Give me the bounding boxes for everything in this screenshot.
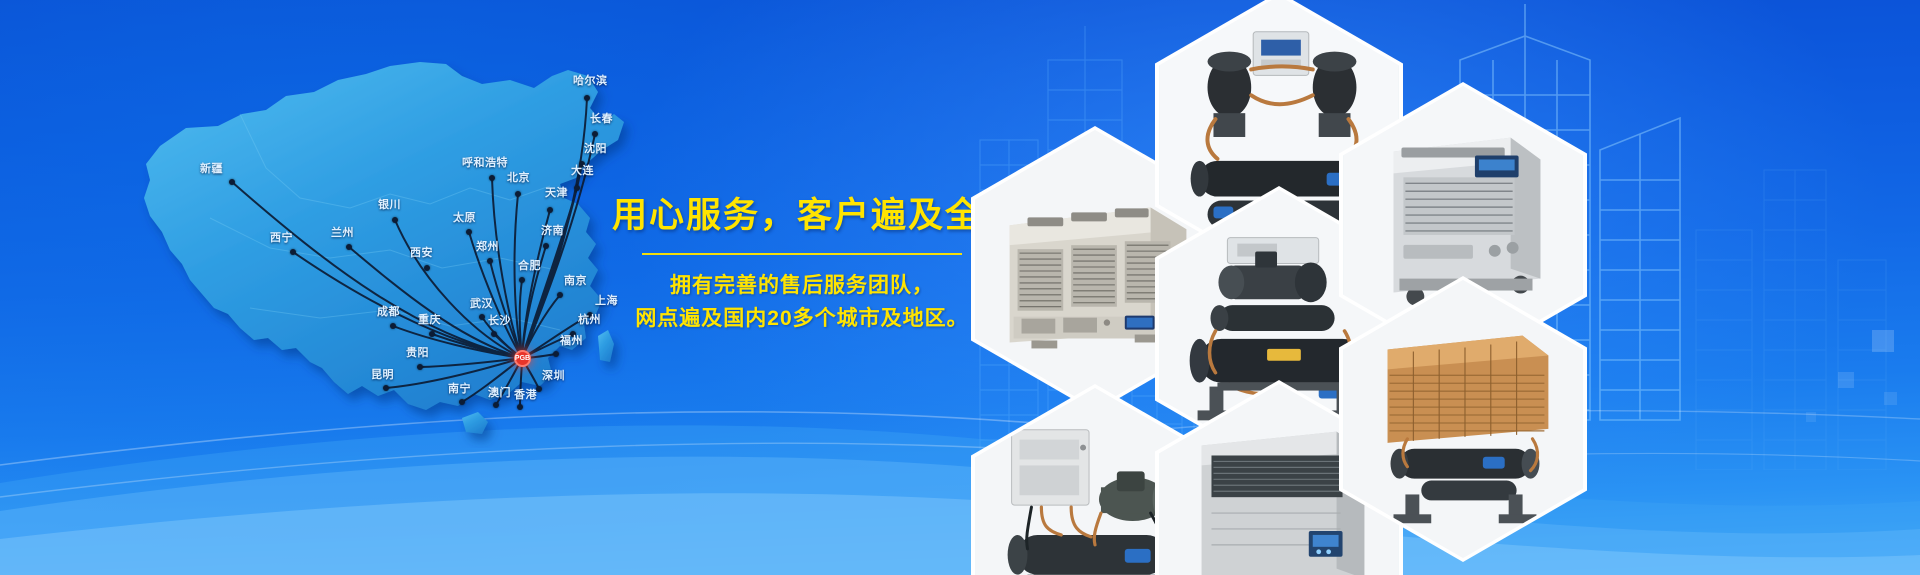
map-city-label: 成都 [377, 307, 400, 318]
map-city-label: 西宁 [270, 233, 293, 244]
map-city-dot[interactable] [517, 404, 523, 410]
map-city-dot[interactable] [592, 131, 598, 137]
map-city-label: 郑州 [476, 242, 499, 253]
map-city-dot[interactable] [487, 258, 493, 264]
map-city-label: 北京 [507, 173, 530, 184]
map-city-label: 昆明 [371, 370, 394, 381]
map-city-label: 澳门 [488, 388, 511, 399]
map-city-dot[interactable] [390, 323, 396, 329]
map-city-label: 合肥 [518, 261, 541, 272]
map-city-dot[interactable] [229, 179, 235, 185]
map-city-dot[interactable] [459, 399, 465, 405]
map-city-label: 南京 [564, 276, 587, 287]
map-city-dot[interactable] [489, 175, 495, 181]
map-city-label: 大连 [571, 166, 594, 177]
map-city-dot[interactable] [417, 364, 423, 370]
decorative-square [1884, 392, 1897, 405]
banner-subtitle-line-2: 网点遍及国内20多个城市及地区。 [612, 303, 992, 336]
banner-text-block: 用心服务，客户遍及全国 拥有完善的售后服务团队， 网点遍及国内20多个城市及地区… [612, 196, 992, 335]
product-hexagon-collage [955, 0, 1595, 575]
banner-headline: 用心服务，客户遍及全国 [612, 196, 992, 236]
map-city-dot[interactable] [290, 249, 296, 255]
map-city-dot[interactable] [519, 277, 525, 283]
map-city-label: 天津 [545, 188, 568, 199]
map-city-dot[interactable] [429, 331, 435, 337]
decorative-square [1872, 330, 1894, 352]
map-city-dot[interactable] [493, 402, 499, 408]
map-hub-marker[interactable]: PGB [514, 350, 531, 367]
map-city-label: 香港 [514, 390, 537, 401]
map-city-label: 太原 [453, 213, 476, 224]
headline-divider [642, 253, 962, 255]
map-city-dot[interactable] [479, 314, 485, 320]
map-city-label: 武汉 [470, 299, 493, 310]
map-city-dot[interactable] [543, 243, 549, 249]
map-city-label: 西安 [410, 248, 433, 259]
map-city-label: 贵阳 [406, 348, 429, 359]
map-city-dot[interactable] [383, 385, 389, 391]
decorative-square [1838, 372, 1854, 388]
map-city-label: 新疆 [200, 164, 223, 175]
map-city-dot[interactable] [547, 207, 553, 213]
map-city-dot[interactable] [346, 244, 352, 250]
map-city-label: 银川 [378, 200, 401, 211]
decorative-square [1806, 412, 1816, 422]
promo-banner: 新疆哈尔滨长春沈阳呼和浩特北京大连天津银川太原兰州西宁郑州西安济南合肥南京上海武… [0, 0, 1920, 575]
map-city-dot[interactable] [584, 95, 590, 101]
map-city-dot[interactable] [553, 351, 559, 357]
banner-subtitle-line-1: 拥有完善的售后服务团队， [612, 270, 992, 303]
map-city-label: 哈尔滨 [573, 76, 608, 87]
map-city-label: 长沙 [488, 316, 511, 327]
map-city-label: 兰州 [331, 228, 354, 239]
map-city-label: 深圳 [542, 371, 565, 382]
map-city-dot[interactable] [515, 191, 521, 197]
map-city-label: 福州 [560, 336, 583, 347]
map-city-label: 重庆 [418, 315, 441, 326]
map-city-label: 济南 [541, 226, 564, 237]
map-city-dot[interactable] [557, 292, 563, 298]
map-city-label: 沈阳 [584, 144, 607, 155]
map-city-label: 杭州 [578, 315, 601, 326]
map-city-dot[interactable] [424, 265, 430, 271]
map-city-label: 呼和浩特 [462, 158, 508, 169]
map-city-dot[interactable] [491, 331, 497, 337]
map-city-label: 长春 [590, 114, 613, 125]
map-city-dot[interactable] [466, 229, 472, 235]
map-city-label: 南宁 [448, 384, 471, 395]
map-city-dot[interactable] [392, 217, 398, 223]
map-city-dot[interactable] [574, 185, 580, 191]
